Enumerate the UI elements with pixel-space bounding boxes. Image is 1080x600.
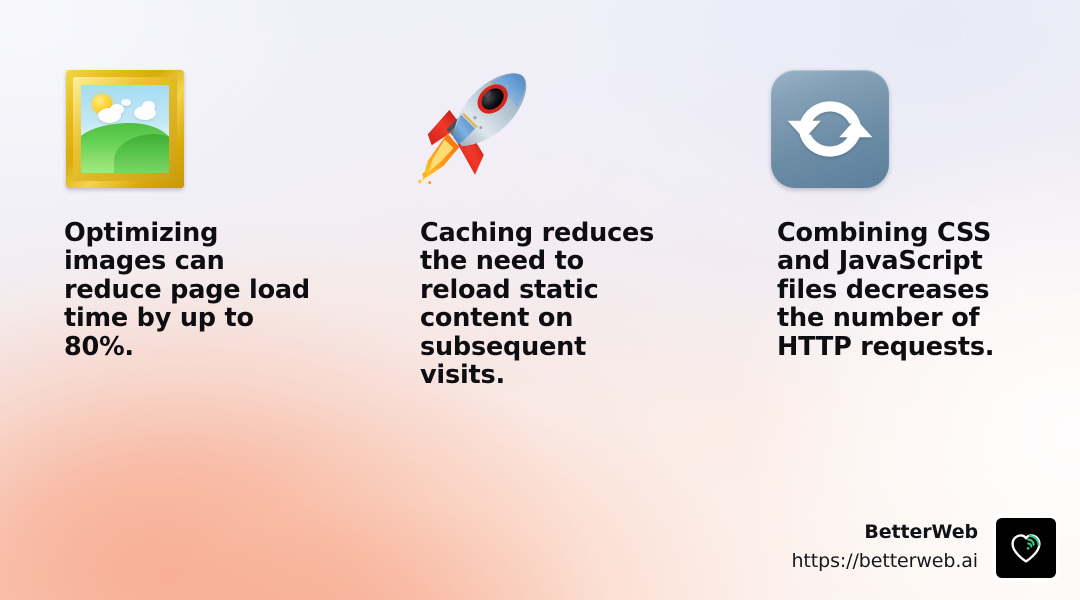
heart-signal-logo-icon [1008,531,1044,565]
tip-text: Caching reduces the need to reload stati… [410,219,710,389]
tip-text: Optimizing images can reduce page load t… [62,219,362,361]
tip-card-caching: Caching reduces the need to reload stati… [410,66,710,389]
brand-logo[interactable] [996,518,1056,578]
tip-icon-slot [410,66,535,191]
tip-icon-slot [62,66,187,191]
brand-footer: BetterWeb https://betterweb.ai [791,518,1056,578]
sync-arrows-icon [771,70,889,188]
brand-url[interactable]: https://betterweb.ai [791,549,978,575]
framed-picture-icon [66,70,184,188]
brand-name: BetterWeb [791,521,978,545]
rocket-icon [414,66,532,191]
tip-text: Combining CSS and JavaScript files decre… [767,219,1057,361]
brand-text-block: BetterWeb https://betterweb.ai [791,521,978,574]
slide-canvas: Optimizing images can reduce page load t… [0,0,1080,600]
tip-icon-slot [767,66,892,191]
tip-card-combining-files: Combining CSS and JavaScript files decre… [767,66,1057,361]
tips-columns: Optimizing images can reduce page load t… [0,0,1080,600]
tip-card-optimizing-images: Optimizing images can reduce page load t… [62,66,362,361]
